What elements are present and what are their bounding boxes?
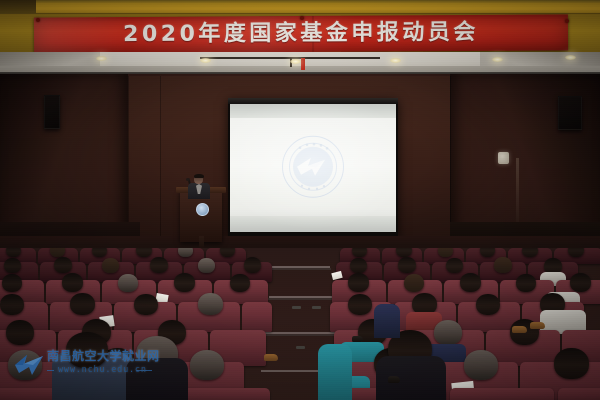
downlight bbox=[390, 58, 401, 63]
banner-tack bbox=[36, 18, 40, 22]
audience-head bbox=[190, 350, 224, 380]
audience-head bbox=[70, 293, 95, 315]
podium-emblem-icon bbox=[196, 203, 209, 216]
downlight bbox=[290, 59, 301, 64]
audience-head bbox=[230, 274, 250, 292]
audience-head bbox=[54, 257, 72, 273]
banner-tack bbox=[300, 16, 304, 20]
audience-head bbox=[348, 294, 372, 315]
event-banner-text: 2020年度国家基金申报动员会 bbox=[123, 22, 479, 46]
event-banner: 2020年度国家基金申报动员会 bbox=[34, 14, 568, 53]
wall-mounted-speaker bbox=[44, 95, 60, 129]
audience-shoulders bbox=[318, 344, 352, 400]
audience-head bbox=[150, 257, 168, 273]
audience-head bbox=[198, 258, 215, 273]
wall-cable-strip bbox=[516, 158, 519, 230]
conference-hall-photo: 2020年度国家基金申报动员会 bbox=[0, 0, 600, 400]
audience-head bbox=[102, 258, 119, 273]
audience-head bbox=[434, 320, 462, 345]
audience-head bbox=[174, 273, 195, 292]
audience-head bbox=[464, 350, 498, 380]
wall-seam bbox=[160, 76, 161, 254]
audience-head bbox=[198, 293, 223, 315]
aisle-floor-mark bbox=[292, 306, 301, 309]
audience-head bbox=[4, 258, 21, 273]
audience-head bbox=[446, 258, 463, 273]
aisle-floor-mark bbox=[312, 306, 321, 309]
audience-head bbox=[350, 258, 367, 273]
presenter-hair bbox=[194, 174, 204, 179]
audience-shoulders bbox=[374, 304, 400, 338]
audience-shoe bbox=[388, 376, 400, 383]
seat-armrest bbox=[180, 388, 270, 400]
audience-head bbox=[62, 273, 83, 292]
wall-light-fixture bbox=[498, 152, 509, 164]
site-watermark: 南昌航空大学就业网 www.nchu.edu.cn bbox=[14, 348, 162, 384]
audience-head bbox=[2, 274, 22, 292]
audience-head bbox=[348, 273, 369, 292]
screen-band-top bbox=[230, 104, 396, 118]
screen-band-bottom bbox=[230, 216, 396, 232]
audience-head bbox=[0, 294, 24, 315]
downlight bbox=[565, 55, 576, 60]
banner-tack bbox=[565, 19, 569, 23]
downlight bbox=[492, 57, 503, 62]
audience-shoe bbox=[530, 322, 545, 329]
audience-head bbox=[494, 257, 512, 273]
blue-arrow-logo-icon bbox=[14, 352, 44, 378]
audience-shoe bbox=[512, 326, 527, 333]
audience-head bbox=[554, 348, 589, 379]
seat-armrest bbox=[450, 388, 554, 400]
audience-head bbox=[570, 273, 591, 292]
aisle-step-edge bbox=[271, 268, 331, 270]
watermark-site-name: 南昌航空大学就业网 bbox=[47, 350, 160, 363]
aisle-floor-mark bbox=[296, 346, 305, 349]
audience-head bbox=[404, 274, 424, 292]
watermark-rule-left bbox=[47, 370, 54, 371]
audience-head bbox=[516, 274, 536, 292]
audience-head bbox=[244, 257, 261, 273]
banner-red-tag bbox=[301, 58, 305, 70]
audience-head bbox=[118, 274, 138, 292]
downlight bbox=[200, 58, 211, 63]
audience-shoulders bbox=[376, 356, 446, 400]
audience-head bbox=[398, 257, 416, 273]
seat bbox=[242, 302, 272, 332]
audience-head bbox=[134, 294, 158, 315]
presenter bbox=[188, 174, 210, 196]
audience-head bbox=[6, 320, 34, 345]
audience-shoe bbox=[352, 336, 363, 342]
audience-shoe bbox=[264, 354, 278, 361]
audience-head bbox=[476, 294, 500, 315]
emblem-arc-text bbox=[282, 136, 344, 198]
watermark-url: www.nchu.edu.cn bbox=[58, 365, 147, 375]
audience-head bbox=[460, 273, 481, 292]
aisle-step-edge bbox=[268, 298, 334, 300]
wall-mounted-speaker bbox=[558, 96, 582, 130]
downlight bbox=[96, 56, 107, 61]
aisle-step-edge bbox=[264, 334, 338, 336]
university-emblem bbox=[282, 136, 344, 198]
projection-screen bbox=[230, 104, 396, 232]
seat-armrest bbox=[558, 388, 600, 400]
